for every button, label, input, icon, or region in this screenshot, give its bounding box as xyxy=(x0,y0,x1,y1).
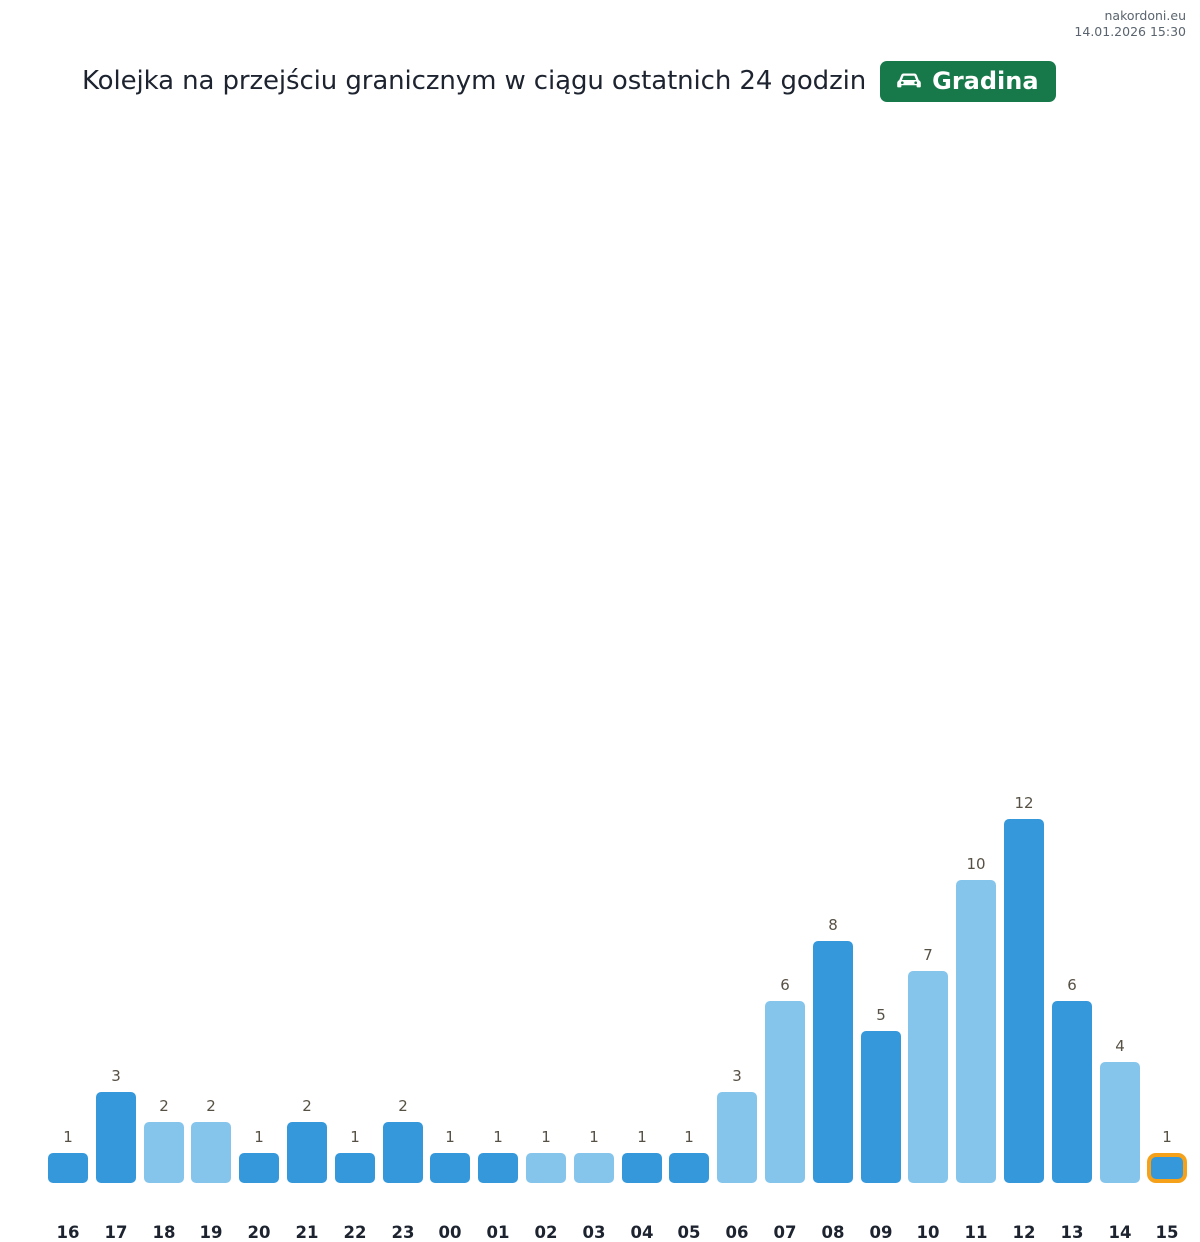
bar[interactable] xyxy=(1052,1001,1092,1183)
x-axis-tick-22: 22 xyxy=(335,1223,375,1242)
x-axis-tick-14: 14 xyxy=(1100,1223,1140,1242)
bar-value-label: 1 xyxy=(669,1128,709,1146)
x-axis-tick-11: 11 xyxy=(956,1223,996,1242)
bar-value-label: 1 xyxy=(526,1128,566,1146)
bar[interactable] xyxy=(478,1153,518,1183)
x-axis-tick-19: 19 xyxy=(191,1223,231,1242)
bar[interactable] xyxy=(526,1153,566,1183)
x-axis-tick-23: 23 xyxy=(383,1223,423,1242)
bar-value-label: 1 xyxy=(239,1128,279,1146)
x-axis-tick-03: 03 xyxy=(574,1223,614,1242)
bar[interactable] xyxy=(1100,1062,1140,1183)
bar[interactable] xyxy=(908,971,948,1183)
bar-value-label: 2 xyxy=(287,1097,327,1115)
queue-bar-chart: 1163172182191202211222231001011021031041… xyxy=(0,0,1200,651)
bar[interactable] xyxy=(622,1153,662,1183)
bar-value-label: 1 xyxy=(335,1128,375,1146)
bar-value-label: 2 xyxy=(383,1097,423,1115)
bar-value-label: 1 xyxy=(48,1128,88,1146)
x-axis-tick-06: 06 xyxy=(717,1223,757,1242)
x-axis-tick-10: 10 xyxy=(908,1223,948,1242)
bar[interactable] xyxy=(383,1122,423,1183)
bar-value-label: 1 xyxy=(478,1128,518,1146)
bar-value-label: 4 xyxy=(1100,1037,1140,1055)
bar-value-label: 6 xyxy=(765,976,805,994)
bar[interactable] xyxy=(48,1153,88,1183)
x-axis-tick-04: 04 xyxy=(622,1223,662,1242)
x-axis-tick-17: 17 xyxy=(96,1223,136,1242)
x-axis-tick-05: 05 xyxy=(669,1223,709,1242)
x-axis-tick-07: 07 xyxy=(765,1223,805,1242)
bar-value-label: 2 xyxy=(144,1097,184,1115)
bar[interactable] xyxy=(430,1153,470,1183)
bar-value-label: 7 xyxy=(908,946,948,964)
bar[interactable] xyxy=(574,1153,614,1183)
bar-value-label: 3 xyxy=(717,1067,757,1085)
bar[interactable] xyxy=(813,941,853,1183)
bar[interactable] xyxy=(239,1153,279,1183)
bar-selected[interactable] xyxy=(1147,1153,1187,1183)
bar[interactable] xyxy=(191,1122,231,1183)
x-axis-tick-13: 13 xyxy=(1052,1223,1092,1242)
bar-value-label: 1 xyxy=(1147,1128,1187,1146)
bar[interactable] xyxy=(765,1001,805,1183)
bar-value-label: 10 xyxy=(956,855,996,873)
bar[interactable] xyxy=(717,1092,757,1183)
bar[interactable] xyxy=(144,1122,184,1183)
x-axis-tick-00: 00 xyxy=(430,1223,470,1242)
bar[interactable] xyxy=(1004,819,1044,1183)
x-axis-tick-12: 12 xyxy=(1004,1223,1044,1242)
x-axis-tick-18: 18 xyxy=(144,1223,184,1242)
x-axis-tick-16: 16 xyxy=(48,1223,88,1242)
x-axis-tick-02: 02 xyxy=(526,1223,566,1242)
bar-value-label: 1 xyxy=(622,1128,662,1146)
bars-container: 1163172182191202211222231001011021031041… xyxy=(48,0,1200,651)
x-axis-tick-15: 15 xyxy=(1147,1223,1187,1242)
bar-value-label: 2 xyxy=(191,1097,231,1115)
x-axis-tick-09: 09 xyxy=(861,1223,901,1242)
bar-value-label: 6 xyxy=(1052,976,1092,994)
x-axis-tick-21: 21 xyxy=(287,1223,327,1242)
bar-value-label: 3 xyxy=(96,1067,136,1085)
bar[interactable] xyxy=(96,1092,136,1183)
bar[interactable] xyxy=(861,1031,901,1183)
bar-value-label: 1 xyxy=(574,1128,614,1146)
bar-value-label: 12 xyxy=(1004,794,1044,812)
x-axis-tick-01: 01 xyxy=(478,1223,518,1242)
bar[interactable] xyxy=(956,880,996,1183)
x-axis-tick-08: 08 xyxy=(813,1223,853,1242)
bar-value-label: 1 xyxy=(430,1128,470,1146)
bar[interactable] xyxy=(287,1122,327,1183)
x-axis-tick-20: 20 xyxy=(239,1223,279,1242)
bar-value-label: 8 xyxy=(813,916,853,934)
bar-value-label: 5 xyxy=(861,1006,901,1024)
bar[interactable] xyxy=(669,1153,709,1183)
bar[interactable] xyxy=(335,1153,375,1183)
